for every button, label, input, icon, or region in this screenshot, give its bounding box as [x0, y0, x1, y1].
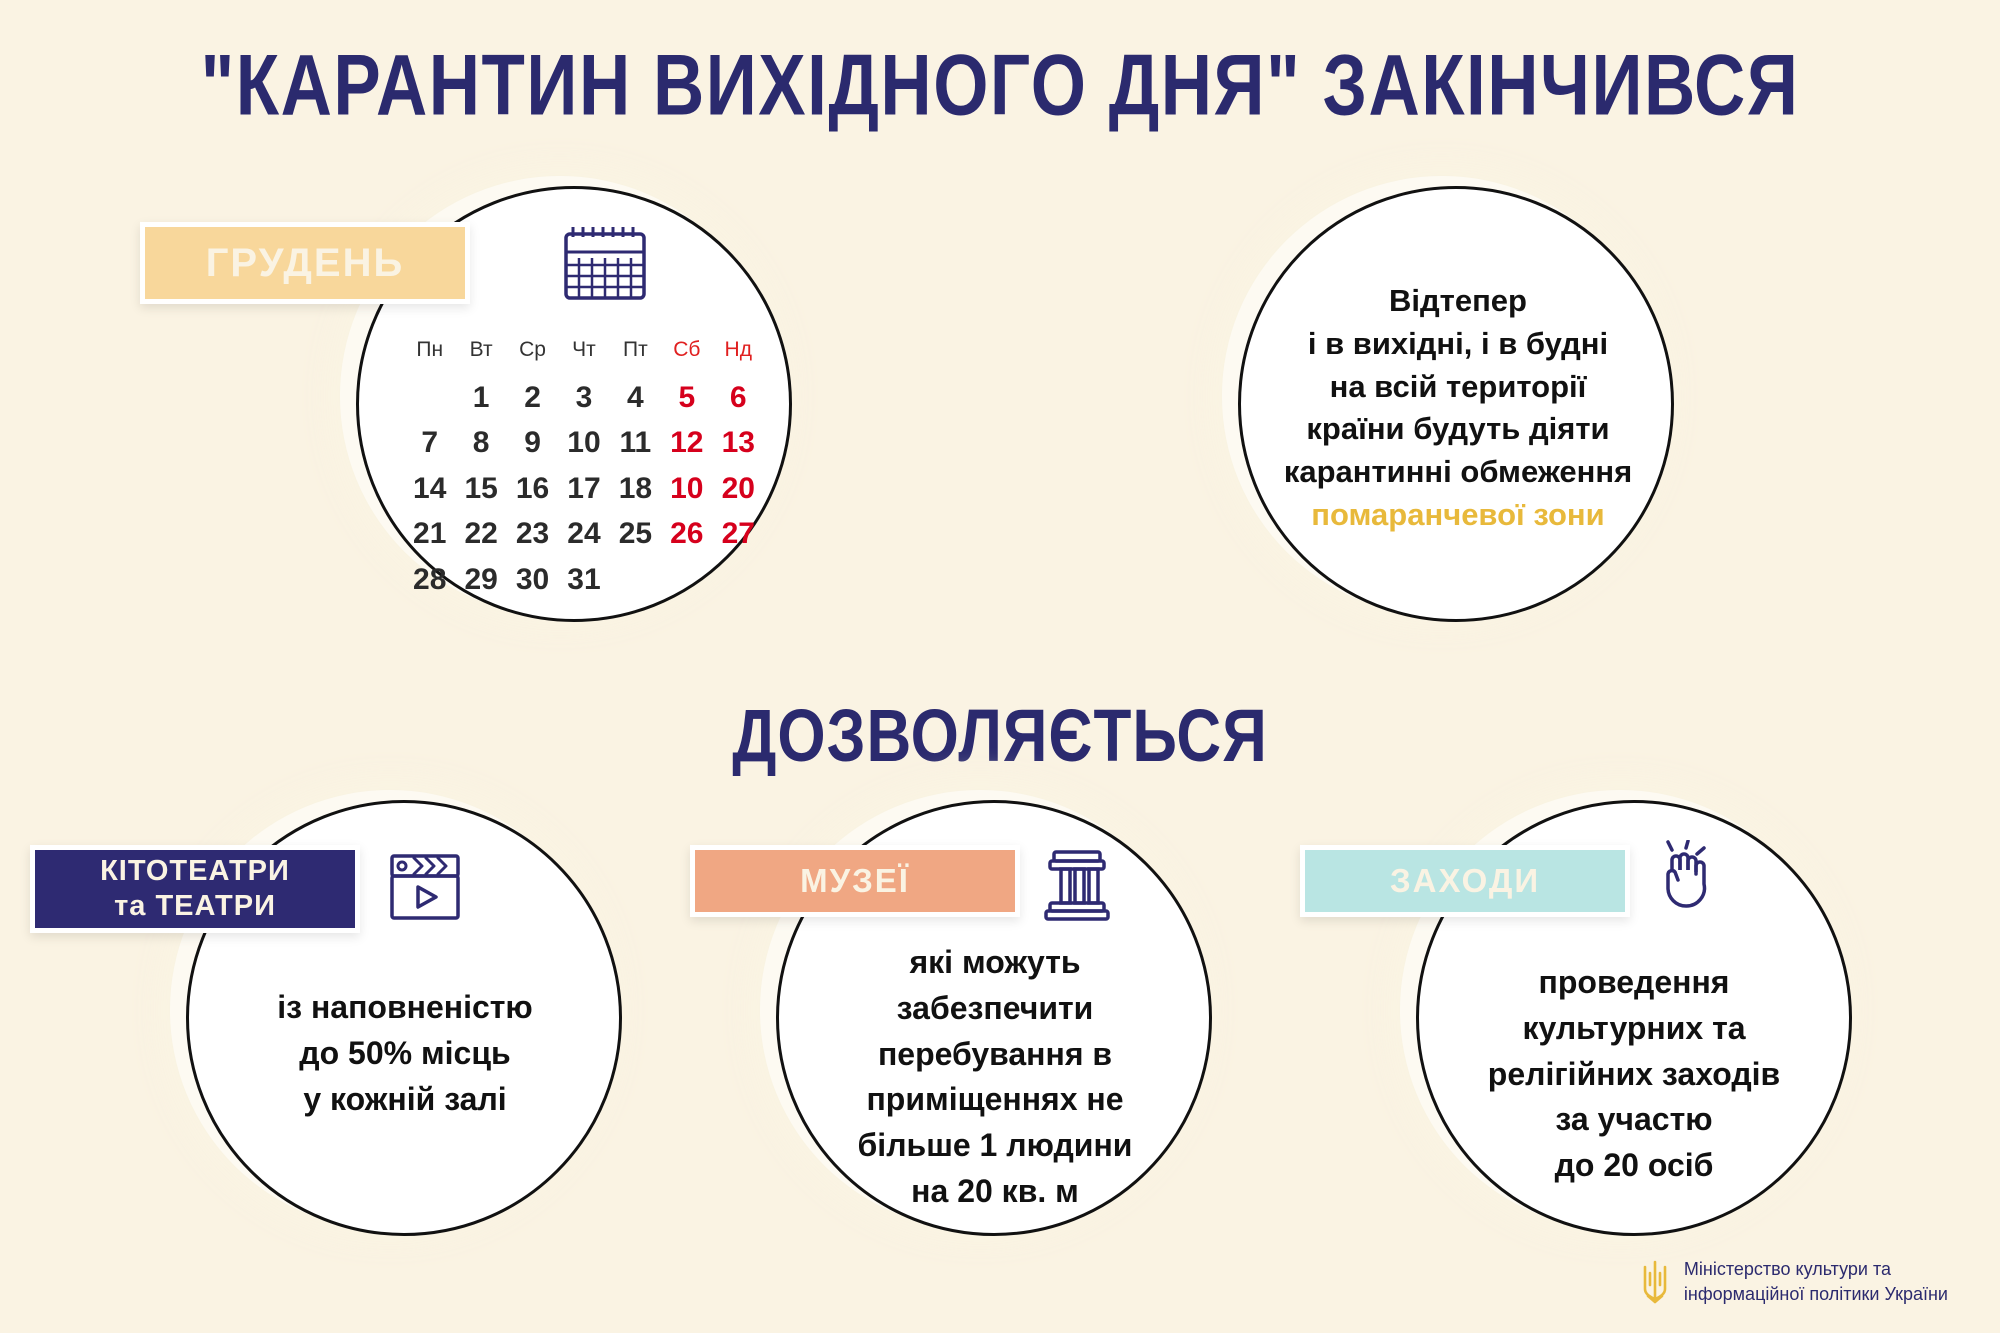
calendar-icon	[562, 224, 648, 302]
calendar-day: 11	[610, 420, 661, 465]
museum-text-line: забезпечити	[790, 986, 1200, 1032]
museum-text-line: перебування в	[790, 1032, 1200, 1078]
calendar-day: 2	[507, 375, 558, 420]
events-card-text: проведення культурних та релігійних захо…	[1428, 960, 1840, 1189]
cinema-text-line: у кожній залі	[200, 1077, 610, 1123]
info-circle-text: Відтепер і в вихідні, і в будні на всій …	[1248, 280, 1668, 537]
events-text-line: за участю	[1428, 1097, 1840, 1143]
calendar-day: 30	[507, 557, 558, 602]
calendar-weekday: Вт	[455, 338, 506, 375]
museum-text-line: на 20 кв. м	[790, 1169, 1200, 1215]
events-badge: ЗАХОДИ	[1300, 845, 1630, 917]
calendar-day: 18	[610, 466, 661, 511]
info-highlight-zone: помаранчевої зони	[1248, 494, 1668, 537]
cinema-card-text: із наповненістю до 50% місць у кожній за…	[200, 985, 610, 1122]
calendar-weekday: Чт	[558, 338, 609, 375]
info-line: і в вихідні, і в будні	[1248, 323, 1668, 366]
cinema-text-line: із наповненістю	[200, 985, 610, 1031]
calendar-week-row: 1 2 3 4 5 6	[404, 375, 764, 420]
calendar-day: 24	[558, 511, 609, 556]
calendar-weekday-row: Пн Вт Ср Чт Пт Сб Нд	[404, 338, 764, 375]
calendar-weekday: Ср	[507, 338, 558, 375]
calendar-grid: Пн Вт Ср Чт Пт Сб Нд 1 2 3 4 5 6	[404, 338, 764, 602]
calendar-weekday: Нд	[713, 338, 764, 375]
calendar-day	[661, 557, 712, 602]
trident-icon	[1640, 1259, 1670, 1305]
calendar-day: 20	[713, 466, 764, 511]
museum-column-icon	[1040, 848, 1114, 922]
info-line: країни будуть діяти	[1248, 408, 1668, 451]
footer-line-1: Міністерство культури та	[1684, 1257, 1948, 1282]
footer-text: Міністерство культури та інформаційної п…	[1684, 1257, 1948, 1307]
info-line: карантинні обмеження	[1248, 451, 1668, 494]
clapperboard-icon	[388, 850, 462, 924]
events-text-line: культурних та	[1428, 1006, 1840, 1052]
events-text-line: проведення	[1428, 960, 1840, 1006]
calendar-day: 25	[610, 511, 661, 556]
calendar-day: 21	[404, 511, 455, 556]
info-line: Відтепер	[1248, 280, 1668, 323]
calendar-day: 31	[558, 557, 609, 602]
calendar-day: 7	[404, 420, 455, 465]
museum-badge: МУЗЕЇ	[690, 845, 1020, 917]
section-heading: ДОЗВОЛЯЄТЬСЯ	[0, 694, 2000, 779]
calendar-week-row: 21 22 23 24 25 26 27	[404, 511, 764, 556]
calendar-day: 17	[558, 466, 609, 511]
calendar-day: 23	[507, 511, 558, 556]
museum-text-line: приміщеннях не	[790, 1077, 1200, 1123]
calendar-week-row: 28 29 30 31	[404, 557, 764, 602]
events-text-line: до 20 осіб	[1428, 1143, 1840, 1189]
calendar-day: 5	[661, 375, 712, 420]
calendar-day	[713, 557, 764, 602]
calendar-day: 26	[661, 511, 712, 556]
museum-badge-label: МУЗЕЇ	[800, 862, 910, 900]
month-badge-label: ГРУДЕНЬ	[206, 241, 405, 286]
calendar-day: 3	[558, 375, 609, 420]
museum-text-line: більше 1 людини	[790, 1123, 1200, 1169]
cinema-badge-line2: та ТЕАТРИ	[114, 889, 276, 924]
calendar-day: 10	[558, 420, 609, 465]
info-line: на всій території	[1248, 366, 1668, 409]
cinema-badge-line1: КІТОТЕАТРИ	[100, 854, 290, 889]
calendar-day: 29	[455, 557, 506, 602]
calendar-day: 12	[661, 420, 712, 465]
events-text-line: релігійних заходів	[1428, 1052, 1840, 1098]
museum-text-line: які можуть	[790, 940, 1200, 986]
calendar-day: 13	[713, 420, 764, 465]
calendar-weekday: Пн	[404, 338, 455, 375]
calendar-day	[610, 557, 661, 602]
calendar-day: 4	[610, 375, 661, 420]
clapping-hands-icon	[1648, 840, 1722, 914]
footer-ministry-logo: Міністерство культури та інформаційної п…	[1640, 1257, 1948, 1307]
calendar-day: 8	[455, 420, 506, 465]
calendar-weekday: Пт	[610, 338, 661, 375]
infographic-poster: "КАРАНТИН ВИХІДНОГО ДНЯ" ЗАКІНЧИВСЯ ГРУД…	[0, 0, 2000, 1333]
calendar-week-row: 7 8 9 10 11 12 13	[404, 420, 764, 465]
calendar-day: 6	[713, 375, 764, 420]
cinema-badge: КІТОТЕАТРИ та ТЕАТРИ	[30, 845, 360, 933]
calendar-day: 15	[455, 466, 506, 511]
calendar-weekday: Сб	[661, 338, 712, 375]
museum-card-text: які можуть забезпечити перебування в при…	[790, 940, 1200, 1215]
calendar-day: 10	[661, 466, 712, 511]
calendar-day: 14	[404, 466, 455, 511]
cinema-text-line: до 50% місць	[200, 1031, 610, 1077]
calendar-week-row: 14 15 16 17 18 10 20	[404, 466, 764, 511]
calendar-day: 28	[404, 557, 455, 602]
page-title: "КАРАНТИН ВИХІДНОГО ДНЯ" ЗАКІНЧИВСЯ	[0, 40, 2000, 132]
calendar-day: 9	[507, 420, 558, 465]
calendar-day	[404, 375, 455, 420]
calendar-day: 27	[713, 511, 764, 556]
calendar-day: 16	[507, 466, 558, 511]
calendar-table: Пн Вт Ср Чт Пт Сб Нд 1 2 3 4 5 6	[404, 338, 764, 602]
calendar-day: 22	[455, 511, 506, 556]
month-badge: ГРУДЕНЬ	[140, 222, 470, 304]
footer-line-2: інформаційної політики України	[1684, 1282, 1948, 1307]
events-badge-label: ЗАХОДИ	[1390, 862, 1540, 900]
calendar-day: 1	[455, 375, 506, 420]
